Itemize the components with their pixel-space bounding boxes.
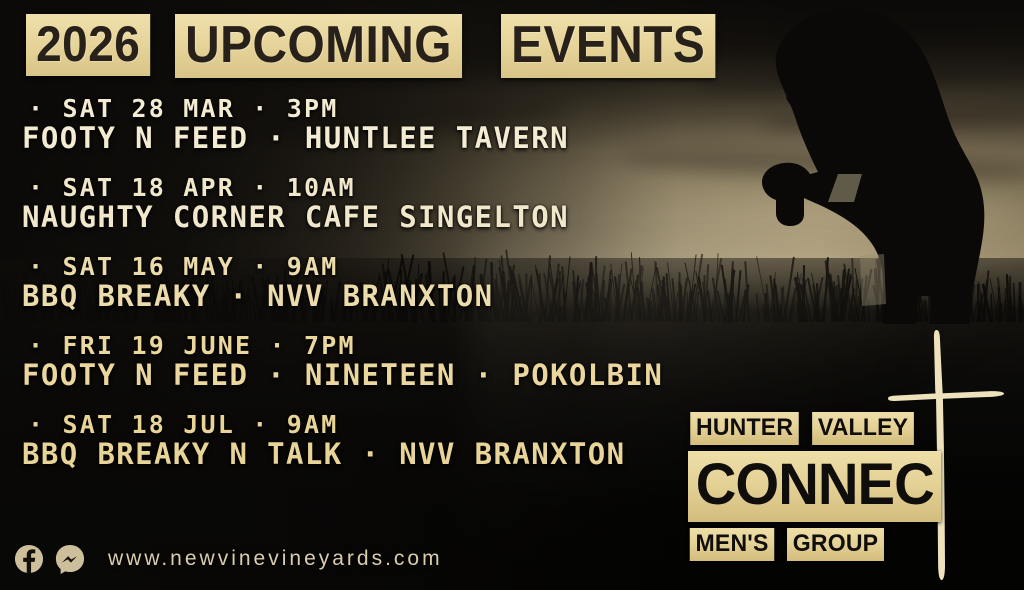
poster-canvas: 2026 UPCOMING EVENTS · SAT 28 MAR · 3PM … — [0, 0, 1024, 590]
event-place: FOOTY N FEED · NINETEEN · POKOLBIN — [22, 361, 682, 391]
logo-line-1: HUNTER VALLEY — [688, 412, 938, 445]
event-item: · SAT 28 MAR · 3PM FOOTY N FEED · HUNTLE… — [22, 96, 682, 153]
kneeling-praying-man-silhouette — [686, 4, 1024, 324]
event-place: FOOTY N FEED · HUNTLEE TAVERN — [22, 124, 682, 154]
facebook-icon[interactable] — [14, 544, 44, 574]
logo-hunter-box: HUNTER — [690, 412, 799, 445]
logo-connec-box: CONNEC — [688, 451, 942, 522]
messenger-icon[interactable] — [55, 544, 85, 574]
event-date: · SAT 28 MAR · 3PM — [22, 96, 682, 122]
event-item: · SAT 18 APR · 10AM NAUGHTY CORNER CAFE … — [22, 175, 682, 232]
header-year-box: 2026 — [26, 14, 150, 76]
events-list: · SAT 28 MAR · 3PM FOOTY N FEED · HUNTLE… — [22, 96, 682, 491]
poster-footer: www.newvinevineyards.com — [14, 544, 443, 574]
event-date: · SAT 18 JUL · 9AM — [22, 412, 682, 438]
event-date: · FRI 19 JUNE · 7PM — [22, 333, 682, 359]
logo-group-box: GROUP — [787, 528, 884, 561]
event-place: BBQ BREAKY · NVV BRANXTON — [22, 282, 682, 312]
header-events-box: EVENTS — [501, 14, 715, 78]
event-date: · SAT 16 MAY · 9AM — [22, 254, 682, 280]
event-item: · FRI 19 JUNE · 7PM FOOTY N FEED · NINET… — [22, 333, 682, 390]
event-item: · SAT 16 MAY · 9AM BBQ BREAKY · NVV BRAN… — [22, 254, 682, 311]
poster-header: 2026 UPCOMING EVENTS — [26, 14, 734, 78]
event-date: · SAT 18 APR · 10AM — [22, 175, 682, 201]
logo-line-3: MEN'S GROUP — [688, 528, 938, 561]
website-url[interactable]: www.newvinevineyards.com — [108, 547, 443, 571]
event-place: NAUGHTY CORNER CAFE SINGELTON — [22, 203, 682, 233]
header-upcoming-box: UPCOMING — [175, 14, 462, 78]
logo-valley-box: VALLEY — [812, 412, 914, 445]
logo-mens-box: MEN'S — [690, 528, 775, 561]
event-item: · SAT 18 JUL · 9AM BBQ BREAKY N TALK · N… — [22, 412, 682, 469]
hunter-valley-connect-logo: HUNTER VALLEY CONNEC MEN'S GROUP — [688, 412, 938, 561]
event-place: BBQ BREAKY N TALK · NVV BRANXTON — [22, 440, 682, 470]
